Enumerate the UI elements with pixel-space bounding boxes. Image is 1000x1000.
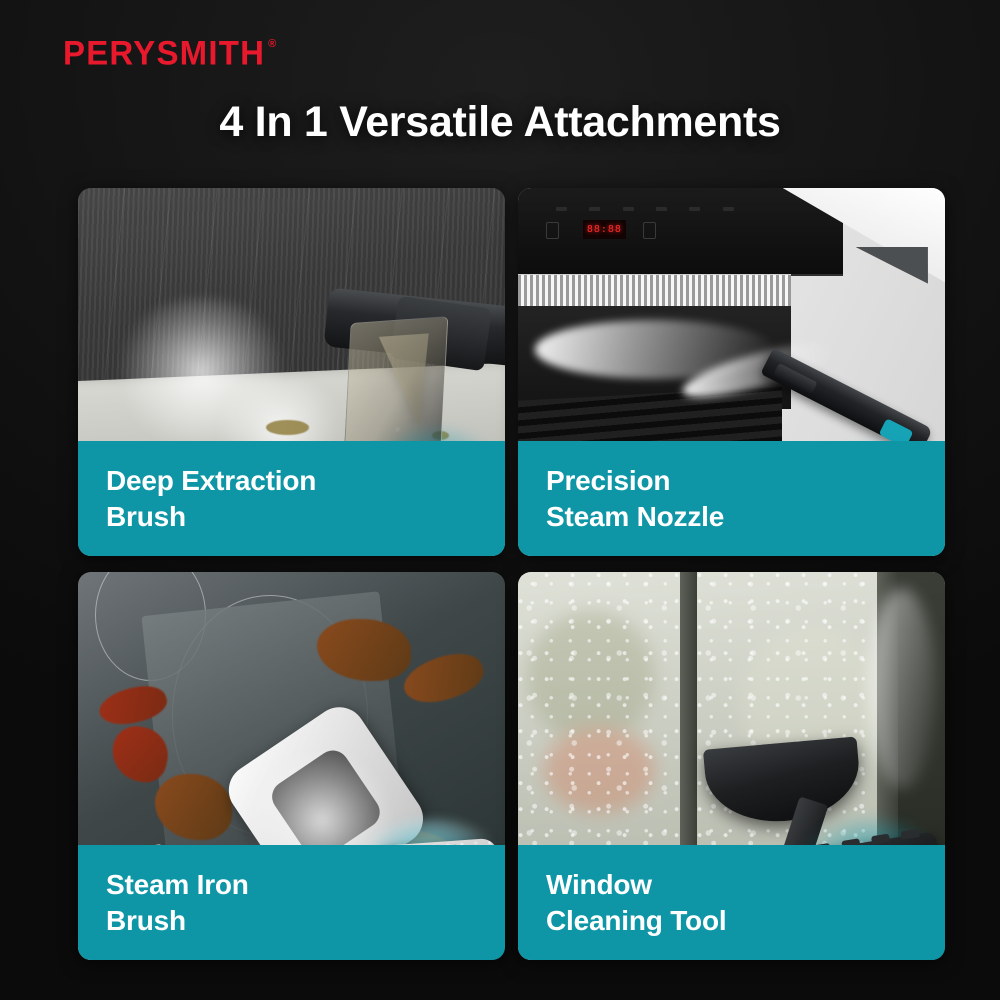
- card-window-cleaning-tool[interactable]: Window Cleaning Tool: [518, 572, 945, 960]
- brand-logo-text: PERYSMITH: [63, 35, 265, 70]
- steam-cloud: [868, 588, 936, 790]
- stain-spot: [266, 420, 309, 435]
- caption-line-2: Brush: [106, 903, 505, 938]
- caption-line-1: Deep Extraction: [106, 463, 505, 498]
- caption-window-cleaning-tool: Window Cleaning Tool: [518, 845, 945, 960]
- card-deep-extraction-brush[interactable]: Deep Extraction Brush: [78, 188, 505, 556]
- range-hood-grille: [518, 274, 791, 307]
- caption-line-2: Brush: [106, 499, 505, 534]
- caption-line-1: Precision: [546, 463, 945, 498]
- promo-page: PERYSMITH ® 4 In 1 Versatile Attachments: [0, 0, 1000, 1000]
- page-title: 4 In 1 Versatile Attachments: [0, 98, 1000, 147]
- attachment-card-grid: Deep Extraction Brush 88:88: [78, 188, 922, 960]
- card-steam-iron-brush[interactable]: Steam Iron Brush: [78, 572, 505, 960]
- range-hood-control-panel: 88:88: [518, 188, 843, 276]
- brand-logo: PERYSMITH ®: [63, 36, 276, 69]
- extraction-head-window: [344, 317, 449, 457]
- caption-line-2: Steam Nozzle: [546, 499, 945, 534]
- hood-display-readout: 88:88: [583, 220, 626, 239]
- caption-steam-iron-brush: Steam Iron Brush: [78, 845, 505, 960]
- caption-deep-extraction-brush: Deep Extraction Brush: [78, 441, 505, 556]
- caption-line-2: Cleaning Tool: [546, 903, 945, 938]
- caption-precision-steam-nozzle: Precision Steam Nozzle: [518, 441, 945, 556]
- card-precision-steam-nozzle[interactable]: 88:88: [518, 188, 945, 556]
- registered-trademark-icon: ®: [268, 38, 276, 50]
- caption-line-1: Window: [546, 867, 945, 902]
- caption-line-1: Steam Iron: [106, 867, 505, 902]
